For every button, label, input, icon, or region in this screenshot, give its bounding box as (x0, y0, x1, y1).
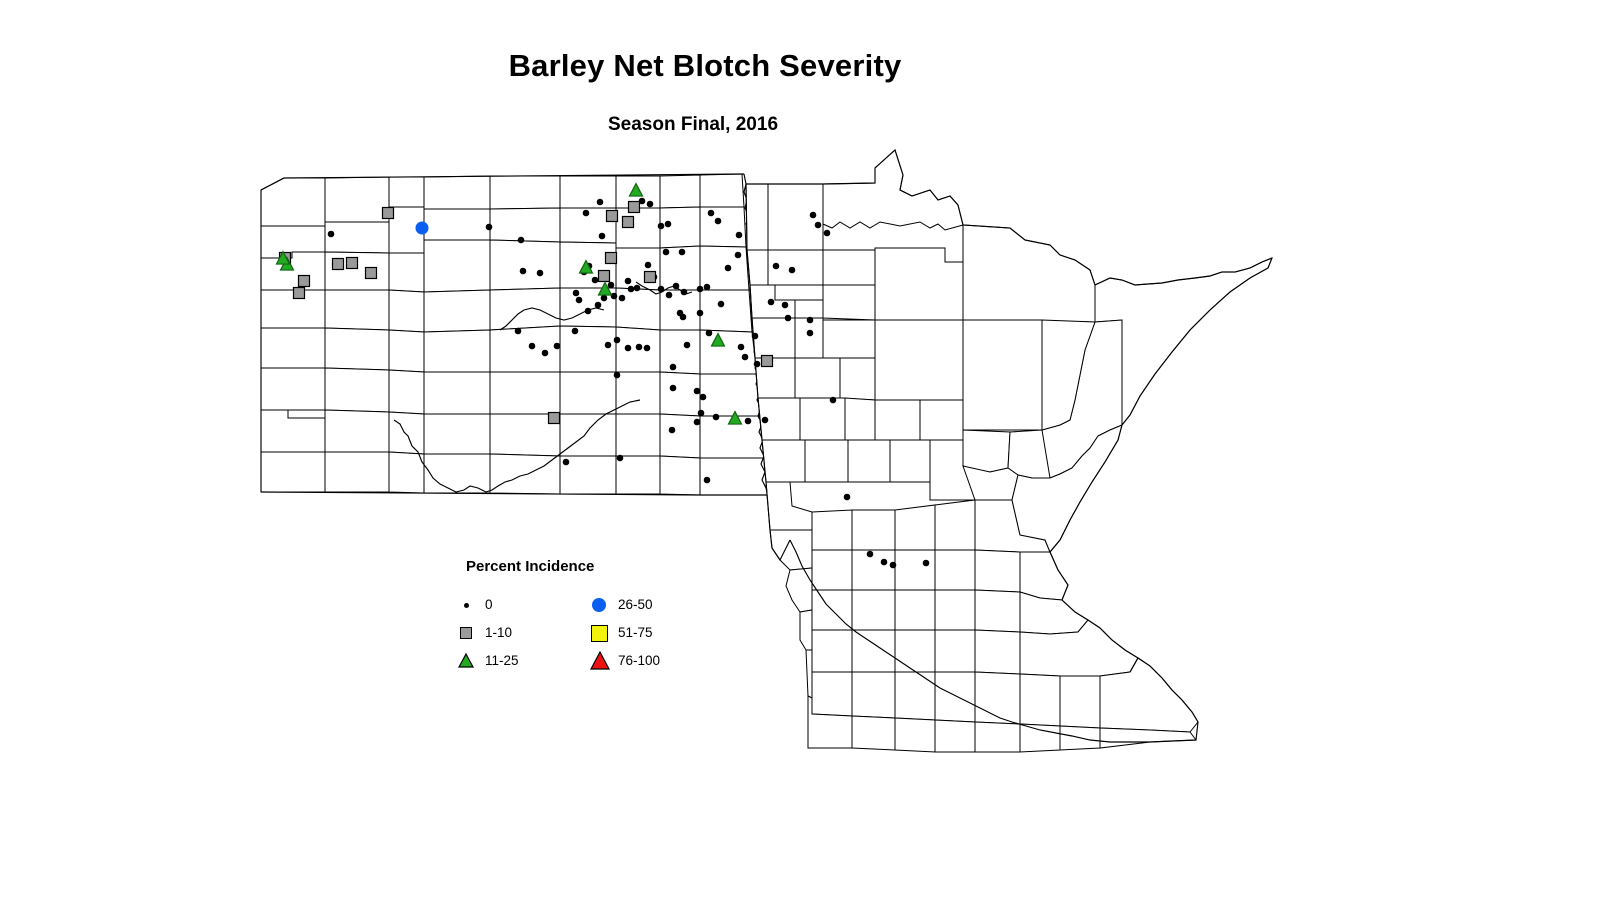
legend-title: Percent Incidence (466, 558, 594, 575)
gray-square-icon (455, 622, 481, 644)
map-marker-0 (673, 283, 680, 290)
map-marker-1-10 (607, 211, 618, 222)
map-marker-0 (554, 343, 561, 350)
map-marker-0 (529, 343, 536, 350)
map-marker-0 (681, 289, 688, 296)
map-marker-1-10 (762, 356, 773, 367)
map-panel (0, 0, 1612, 900)
map-marker-0 (684, 342, 691, 349)
map-marker-0 (573, 290, 580, 297)
map-marker-0 (742, 354, 749, 361)
map-marker-0 (592, 277, 599, 284)
map-marker-0 (645, 262, 652, 269)
map-marker-0 (599, 233, 606, 240)
map-marker-0 (597, 199, 604, 206)
map-marker-0 (679, 249, 686, 256)
map-marker-0 (605, 342, 612, 349)
map-marker-1-10 (623, 217, 634, 228)
legend-label-26-50: 26-50 (618, 597, 653, 612)
legend: Percent Incidence 0 1-10 (455, 550, 715, 685)
map-marker-1-10 (333, 259, 344, 270)
map-marker-0 (762, 417, 769, 424)
map-marker-0 (583, 210, 590, 217)
map-marker-0 (725, 265, 732, 272)
map-marker-0 (644, 345, 651, 352)
map-marker-0 (713, 414, 720, 421)
figure-root: Barley Net Blotch Severity Season Final,… (0, 0, 1612, 900)
map-marker-0 (844, 494, 851, 501)
map-marker-0 (585, 308, 592, 315)
map-marker-0 (704, 477, 711, 484)
county-map-svg (0, 0, 1612, 900)
map-marker-0 (486, 224, 493, 231)
legend-label-1-10: 1-10 (485, 625, 512, 640)
map-marker-0 (625, 278, 632, 285)
map-marker-0 (867, 551, 874, 558)
map-marker-0 (658, 223, 665, 230)
green-triangle-icon (455, 650, 481, 672)
legend-label-11-25: 11-25 (485, 653, 519, 668)
map-marker-1-10 (299, 276, 310, 287)
map-marker-1-10 (599, 271, 610, 282)
map-marker-0 (576, 297, 583, 304)
map-marker-0 (706, 330, 713, 337)
map-marker-1-10 (606, 253, 617, 264)
map-marker-1-10 (383, 208, 394, 219)
map-marker-0 (745, 418, 752, 425)
legend-label-76-100: 76-100 (618, 653, 660, 668)
yellow-square-icon (588, 622, 614, 644)
map-marker-0 (738, 344, 745, 351)
map-marker-0 (890, 562, 897, 569)
map-marker-0 (785, 315, 792, 322)
red-triangle-icon (588, 650, 614, 672)
map-marker-0 (595, 302, 602, 309)
map-marker-0 (518, 237, 525, 244)
map-marker-0 (830, 397, 837, 404)
map-marker-0 (614, 372, 621, 379)
map-marker-1-10 (294, 288, 305, 299)
map-marker-1-10 (629, 202, 640, 213)
north-dakota-counties (261, 174, 771, 495)
blue-circle-icon (588, 594, 614, 616)
map-marker-0 (923, 560, 930, 567)
map-marker-0 (608, 282, 615, 289)
map-marker-1-10 (366, 268, 377, 279)
map-marker-0 (328, 231, 335, 238)
map-marker-0 (881, 559, 888, 566)
map-marker-0 (752, 333, 759, 340)
dot-icon (455, 594, 481, 616)
map-marker-0 (700, 394, 707, 401)
map-marker-0 (810, 212, 817, 219)
map-marker-26-50 (416, 222, 429, 235)
map-marker-0 (704, 284, 711, 291)
map-marker-0 (542, 350, 549, 357)
map-marker-0 (665, 221, 672, 228)
map-marker-0 (807, 330, 814, 337)
map-marker-0 (520, 268, 527, 275)
map-marker-0 (669, 427, 676, 434)
map-marker-0 (537, 270, 544, 277)
map-marker-0 (768, 299, 775, 306)
map-marker-0 (715, 218, 722, 225)
map-marker-0 (694, 419, 701, 426)
map-marker-0 (697, 310, 704, 317)
map-marker-0 (698, 410, 705, 417)
map-marker-1-10 (347, 258, 358, 269)
map-marker-0 (647, 201, 654, 208)
map-marker-0 (718, 301, 725, 308)
map-marker-0 (670, 385, 677, 392)
map-marker-0 (754, 361, 761, 368)
map-marker-1-10 (645, 272, 656, 283)
legend-label-0: 0 (485, 597, 493, 612)
minnesota-counties (746, 150, 1272, 752)
map-marker-0 (658, 286, 665, 293)
map-marker-0 (708, 210, 715, 217)
map-marker-1-10 (549, 413, 560, 424)
map-marker-0 (694, 388, 701, 395)
map-marker-0 (697, 286, 704, 293)
map-marker-0 (601, 295, 608, 302)
map-marker-0 (611, 293, 618, 300)
legend-label-51-75: 51-75 (618, 625, 653, 640)
map-marker-0 (815, 222, 822, 229)
map-marker-0 (614, 337, 621, 344)
map-marker-0 (782, 302, 789, 309)
map-marker-0 (789, 267, 796, 274)
map-marker-0 (634, 285, 641, 292)
map-marker-0 (736, 232, 743, 239)
map-marker-0 (572, 328, 579, 335)
map-marker-0 (563, 459, 570, 466)
map-marker-0 (628, 286, 635, 293)
map-marker-0 (735, 252, 742, 259)
map-marker-0 (515, 328, 522, 335)
map-marker-0 (773, 263, 780, 270)
map-marker-0 (617, 455, 624, 462)
map-marker-0 (824, 230, 831, 237)
map-marker-0 (807, 317, 814, 324)
map-marker-0 (636, 344, 643, 351)
map-marker-0 (677, 310, 684, 317)
map-marker-0 (619, 295, 626, 302)
map-marker-0 (663, 249, 670, 256)
map-marker-0 (666, 292, 673, 299)
map-marker-0 (625, 345, 632, 352)
map-marker-0 (670, 364, 677, 371)
